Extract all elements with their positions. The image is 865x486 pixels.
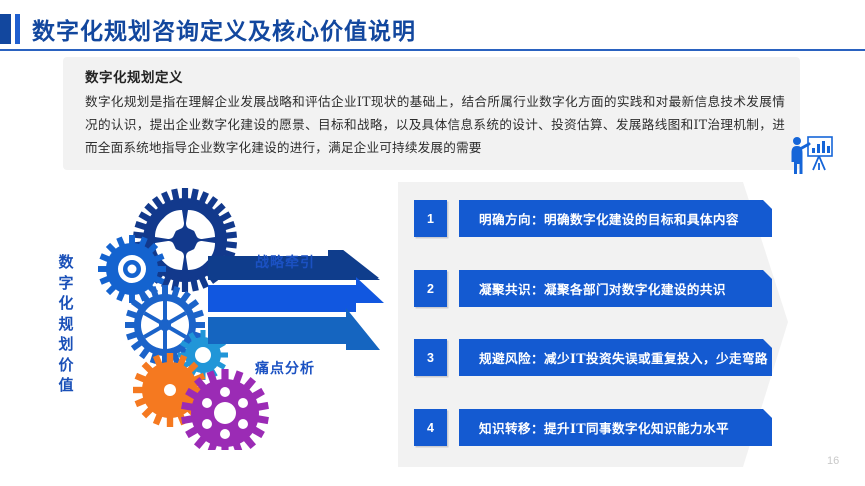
definition-body: 数字化规划是指在理解企业发展战略和评估企业IT现状的基础上，结合所属行业数字化方…: [85, 90, 785, 159]
title-accent-bar-outer: [0, 14, 11, 44]
definition-heading: 数字化规划定义: [85, 66, 183, 86]
benefit-text: 凝聚共识：凝聚各部门对数字化建设的共识: [459, 270, 772, 307]
presenter-chart-icon: [789, 133, 833, 175]
benefit-text: 规避风险：减少IT投资失误或重复投入，少走弯路: [459, 339, 772, 376]
page-number: 16: [827, 455, 839, 467]
arrow-label-top: 战略牵引: [255, 252, 315, 272]
page-title: 数字化规划咨询定义及核心价值说明: [32, 12, 416, 46]
benefit-number: 1: [414, 200, 447, 237]
title-accent-bar-inner: [15, 14, 20, 44]
benefit-number: 3: [414, 339, 447, 376]
arrow-label-bottom: 痛点分析: [255, 358, 315, 378]
slide-canvas: 数字化规划咨询定义及核心价值说明 数字化规划定义 数字化规划是指在理解企业发展战…: [0, 0, 865, 486]
benefit-number: 4: [414, 409, 447, 446]
title-divider: [0, 49, 865, 51]
definition-box: 数字化规划定义 数字化规划是指在理解企业发展战略和评估企业IT现状的基础上，结合…: [63, 57, 800, 170]
benefit-text: 知识转移：提升IT同事数字化知识能力水平: [459, 409, 772, 446]
benefit-text: 明确方向：明确数字化建设的目标和具体内容: [459, 200, 772, 237]
benefit-number: 2: [414, 270, 447, 307]
